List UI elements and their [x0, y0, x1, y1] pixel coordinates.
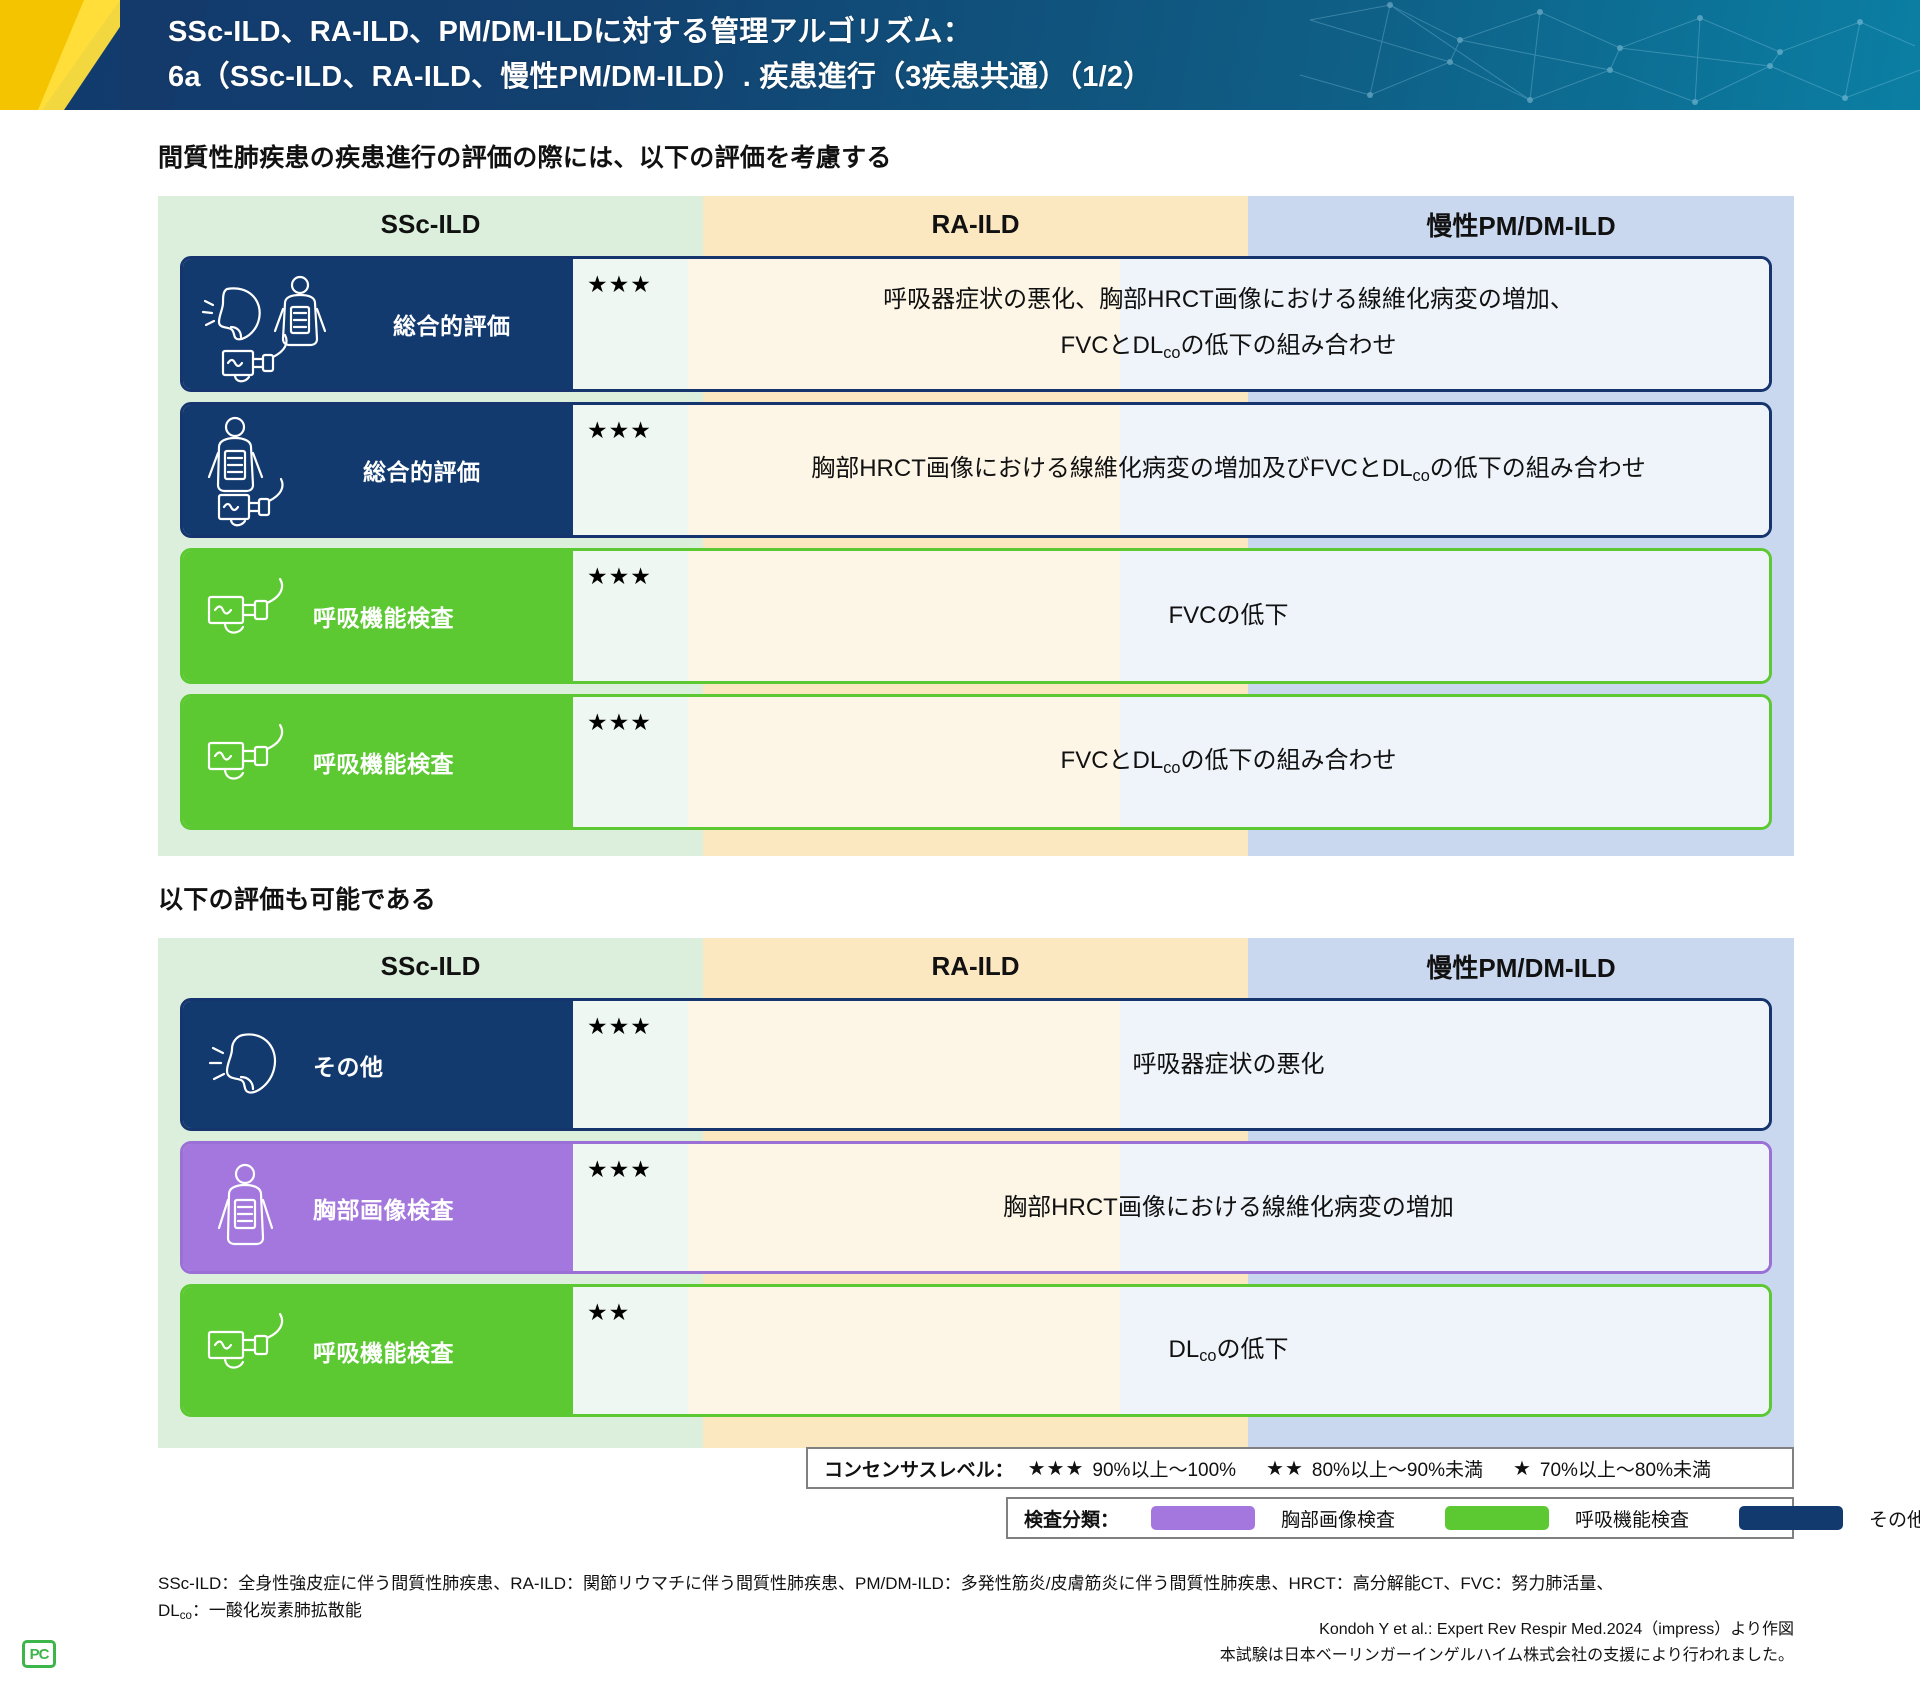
- row-label-cell: 胸部画像検査: [183, 1144, 573, 1271]
- column-header-ra: RA-ILD: [703, 209, 1248, 240]
- table-row[interactable]: 総合的評価 ★★★ 呼吸器症状の悪化、胸部HRCT画像における線維化病変の増加、…: [180, 256, 1772, 392]
- consensus-level-legend: コンセンサスレベル： ★★★ 90%以上〜100% ★★ 80%以上〜90%未満…: [806, 1447, 1794, 1489]
- category-label-pft: 呼吸機能検査: [1575, 1505, 1689, 1532]
- column-header-ra: RA-ILD: [703, 951, 1248, 982]
- row-bg-ra: [688, 551, 1120, 681]
- section2-table: SSc-ILD RA-ILD 慢性PM/DM-ILD: [158, 938, 1794, 1448]
- swatch-imaging: [1151, 1506, 1255, 1530]
- consensus-legend-item: ★★★ 90%以上〜100%: [1028, 1455, 1236, 1482]
- row-label-text: 総合的評価: [393, 307, 511, 341]
- row-text-line1: 呼吸器症状の悪化、胸部HRCT画像における線維化病変の増加、: [883, 277, 1574, 323]
- column-header-pmdm: 慢性PM/DM-ILD: [1248, 948, 1794, 985]
- spirometer-icon: [197, 719, 307, 805]
- stars-3: ★★★: [1028, 1456, 1085, 1481]
- category-legend-item-other: その他: [1739, 1505, 1920, 1532]
- consensus-legend-item: ★★ 80%以上〜90%未満: [1266, 1455, 1483, 1482]
- table-row[interactable]: 呼吸機能検査 ★★★ FVCの低下: [180, 548, 1772, 684]
- column-header-ssc: SSc-ILD: [158, 209, 703, 240]
- consensus-legend-title: コンセンサスレベル：: [824, 1455, 1014, 1482]
- section2-rows: その他 ★★★ 呼吸器症状の悪化: [158, 998, 1794, 1438]
- abbreviations-line1: SSc-ILD：全身性強皮症に伴う間質性肺疾患、RA-ILD：関節リウマチに伴う…: [158, 1570, 1818, 1597]
- stars-1-label: 70%以上〜80%未満: [1540, 1455, 1711, 1482]
- row-body: 胸部HRCT画像における線維化病変の増加及びFVCとDLcoの低下の組み合わせ: [688, 405, 1769, 535]
- row-label-text: 胸部画像検査: [313, 1191, 454, 1225]
- row-stars: ★★: [573, 1287, 688, 1414]
- table-row[interactable]: 総合的評価 ★★★ 胸部HRCT画像における線維化病変の増加及びFVCとDLco…: [180, 402, 1772, 538]
- row-label-cell: 呼吸機能検査: [183, 697, 573, 827]
- row-body-text: FVCの低下: [1155, 593, 1303, 639]
- row-label-cell: 呼吸機能検査: [183, 1287, 573, 1414]
- source-line2: 本試験は日本ベーリンガーインゲルハイム株式会社の支援により行われました。: [1220, 1643, 1794, 1669]
- row-text-line1: FVCの低下: [1169, 593, 1289, 639]
- title-banner: SSc-ILD、RA-ILD、PM/DM-ILDに対する管理アルゴリズム： 6a…: [0, 0, 1920, 110]
- category-legend-title: 検査分類：: [1024, 1505, 1119, 1532]
- row-stars: ★★★: [573, 1144, 688, 1271]
- row-text-line1: DLcoの低下: [1169, 1327, 1289, 1375]
- test-category-legend: 検査分類： 胸部画像検査 呼吸機能検査 その他: [1006, 1497, 1794, 1539]
- spirometer-icon: [197, 1308, 307, 1394]
- stars-2-label: 80%以上〜90%未満: [1312, 1455, 1483, 1482]
- swatch-other: [1739, 1506, 1843, 1530]
- section1-rows: 総合的評価 ★★★ 呼吸器症状の悪化、胸部HRCT画像における線維化病変の増加、…: [158, 256, 1794, 846]
- section1-table: SSc-ILD RA-ILD 慢性PM/DM-ILD: [158, 196, 1794, 856]
- row-body: 呼吸器症状の悪化: [688, 1001, 1769, 1128]
- row-stars: ★★★: [573, 1001, 688, 1128]
- row-body-text: FVCとDLcoの低下の組み合わせ: [1047, 738, 1411, 786]
- row-body-text: 胸部HRCT画像における線維化病変の増加及びFVCとDLcoの低下の組み合わせ: [797, 446, 1660, 494]
- row-stars: ★★★: [573, 551, 688, 681]
- page-title-line2: 6a（SSc-ILD、RA-ILD、慢性PM/DM-ILD）. 疾患進行（3疾患…: [168, 55, 1900, 100]
- row-body-text: 呼吸器症状の悪化: [1119, 1042, 1339, 1088]
- category-legend-item-pft: 呼吸機能検査: [1445, 1505, 1689, 1532]
- row-stars: ★★★: [573, 697, 688, 827]
- slide: SSc-ILD、RA-ILD、PM/DM-ILDに対する管理アルゴリズム： 6a…: [0, 0, 1920, 1691]
- row-label-cell: 総合的評価: [183, 259, 573, 389]
- row-text-line1: 胸部HRCT画像における線維化病変の増加及びFVCとDLcoの低下の組み合わせ: [811, 446, 1646, 494]
- row-body: 胸部HRCT画像における線維化病変の増加: [688, 1144, 1769, 1271]
- stars-3-label: 90%以上〜100%: [1092, 1455, 1236, 1482]
- table-row[interactable]: 呼吸機能検査 ★★★ FVCとDLcoの低下の組み合わせ: [180, 694, 1772, 830]
- face-cough-icon: [197, 1013, 307, 1117]
- table-row[interactable]: 呼吸機能検査 ★★ DLcoの低下: [180, 1284, 1772, 1417]
- row-body: FVCとDLcoの低下の組み合わせ: [688, 697, 1769, 827]
- row-body-text: DLcoの低下: [1155, 1327, 1303, 1375]
- category-label-other: その他: [1869, 1505, 1920, 1532]
- source-line1: Kondoh Y et al.: Expert Rev Respir Med.2…: [1220, 1617, 1794, 1643]
- row-label-text: 呼吸機能検査: [313, 599, 454, 633]
- row-label-cell: 総合的評価: [183, 405, 573, 535]
- person-xray-icon: [197, 1156, 307, 1260]
- row-body: FVCの低下: [688, 551, 1769, 681]
- stars-2: ★★: [1266, 1456, 1304, 1481]
- row-label-text: 呼吸機能検査: [313, 1334, 454, 1368]
- row-bg-ra: [688, 1287, 1120, 1414]
- row-body: 呼吸器症状の悪化、胸部HRCT画像における線維化病変の増加、 FVCとDLcoの…: [688, 259, 1769, 389]
- row-stars: ★★★: [573, 259, 688, 389]
- spirometer-icon: [197, 573, 307, 659]
- row-body-text: 胸部HRCT画像における線維化病変の増加: [989, 1185, 1468, 1231]
- section1-column-headers: SSc-ILD RA-ILD 慢性PM/DM-ILD: [158, 196, 1794, 252]
- stars-1: ★: [1513, 1456, 1532, 1481]
- category-legend-item-imaging: 胸部画像検査: [1151, 1505, 1395, 1532]
- row-label-cell: 呼吸機能検査: [183, 551, 573, 681]
- section1-title: 間質性肺疾患の疾患進行の評価の際には、以下の評価を考慮する: [158, 138, 892, 174]
- swatch-pft: [1445, 1506, 1549, 1530]
- row-stars: ★★★: [573, 405, 688, 535]
- consensus-legend-item: ★ 70%以上〜80%未満: [1513, 1455, 1711, 1482]
- row-body: DLcoの低下: [688, 1287, 1769, 1414]
- table-row[interactable]: その他 ★★★ 呼吸器症状の悪化: [180, 998, 1772, 1131]
- row-body-text: 呼吸器症状の悪化、胸部HRCT画像における線維化病変の増加、 FVCとDLcoの…: [869, 277, 1588, 371]
- category-label-imaging: 胸部画像検査: [1281, 1505, 1395, 1532]
- row-text-line1: 呼吸器症状の悪化: [1133, 1042, 1325, 1088]
- column-header-ssc: SSc-ILD: [158, 951, 703, 982]
- row-bg-ra: [688, 1001, 1120, 1128]
- column-header-pmdm: 慢性PM/DM-ILD: [1248, 206, 1794, 243]
- row-label-text: 呼吸機能検査: [313, 745, 454, 779]
- row-label-cell: その他: [183, 1001, 573, 1128]
- source-citation: Kondoh Y et al.: Expert Rev Respir Med.2…: [1220, 1617, 1794, 1669]
- pc-logo: PC: [22, 1640, 56, 1668]
- section2-column-headers: SSc-ILD RA-ILD 慢性PM/DM-ILD: [158, 938, 1794, 994]
- row-text-line2: FVCとDLcoの低下の組み合わせ: [883, 323, 1574, 371]
- person-xray-spirometer-icons: [197, 411, 357, 529]
- page-title: SSc-ILD、RA-ILD、PM/DM-ILDに対する管理アルゴリズム： 6a…: [168, 10, 1900, 100]
- row-text-line1: 胸部HRCT画像における線維化病変の増加: [1003, 1185, 1454, 1231]
- section2-title: 以下の評価も可能である: [158, 880, 436, 916]
- row-label-text: 総合的評価: [363, 453, 481, 487]
- table-row[interactable]: 胸部画像検査 ★★★ 胸部HRCT画像における線維化病変の増加: [180, 1141, 1772, 1274]
- row-label-text: その他: [313, 1048, 384, 1082]
- row-text-line1: FVCとDLcoの低下の組み合わせ: [1061, 738, 1397, 786]
- face-person-spirometer-icons: [197, 265, 387, 383]
- page-title-line1: SSc-ILD、RA-ILD、PM/DM-ILDに対する管理アルゴリズム：: [168, 10, 1900, 55]
